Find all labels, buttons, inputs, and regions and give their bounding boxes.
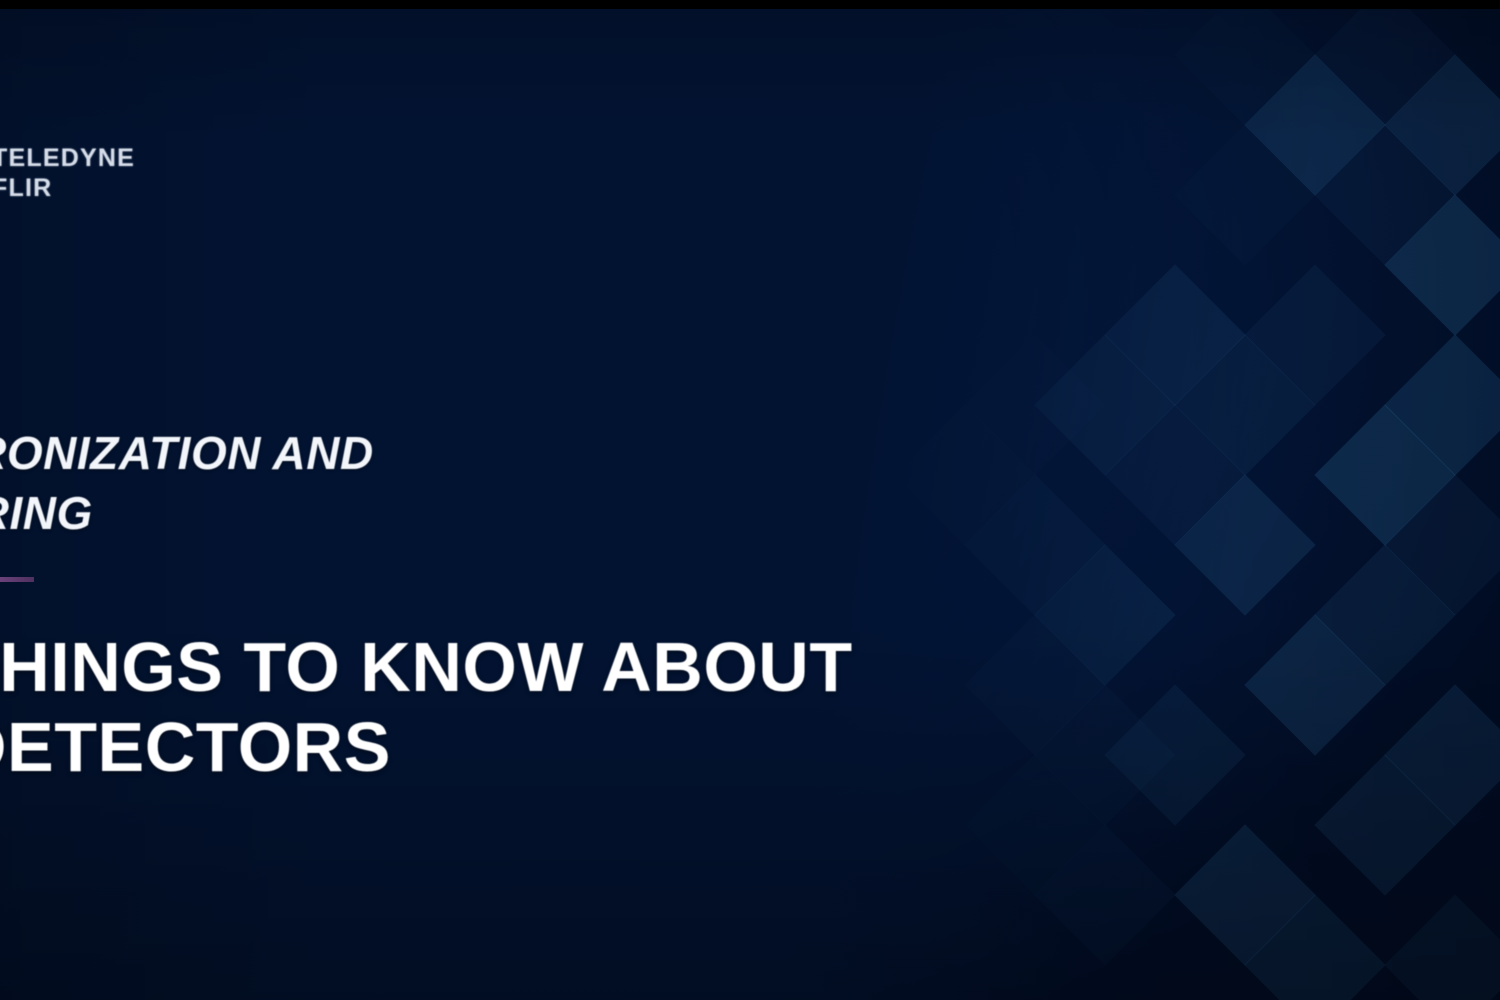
logo-wordmark-flir: FLIR (0, 176, 135, 201)
slide-content: TELEDYNE FLIR NCHRONIZATION AND GGERING … (0, 0, 1500, 1000)
teledyne-flir-logo: TELEDYNE FLIR (0, 146, 135, 201)
headline-line-1: THINGS TO KNOW ABOUT (0, 628, 1156, 708)
letterbox-bar-top (0, 0, 1500, 9)
logo-wordmark-teledyne: TELEDYNE (0, 146, 135, 171)
eyebrow-line-1: NCHRONIZATION AND (0, 424, 972, 484)
slide-headline: THINGS TO KNOW ABOUT DETECTORS (0, 628, 1156, 788)
eyebrow-line-2: GGERING (0, 484, 972, 544)
accent-divider (0, 577, 34, 582)
headline-line-2: DETECTORS (0, 708, 1156, 788)
slide-eyebrow: NCHRONIZATION AND GGERING (0, 424, 972, 544)
title-slide: TELEDYNE FLIR NCHRONIZATION AND GGERING … (0, 0, 1500, 1000)
